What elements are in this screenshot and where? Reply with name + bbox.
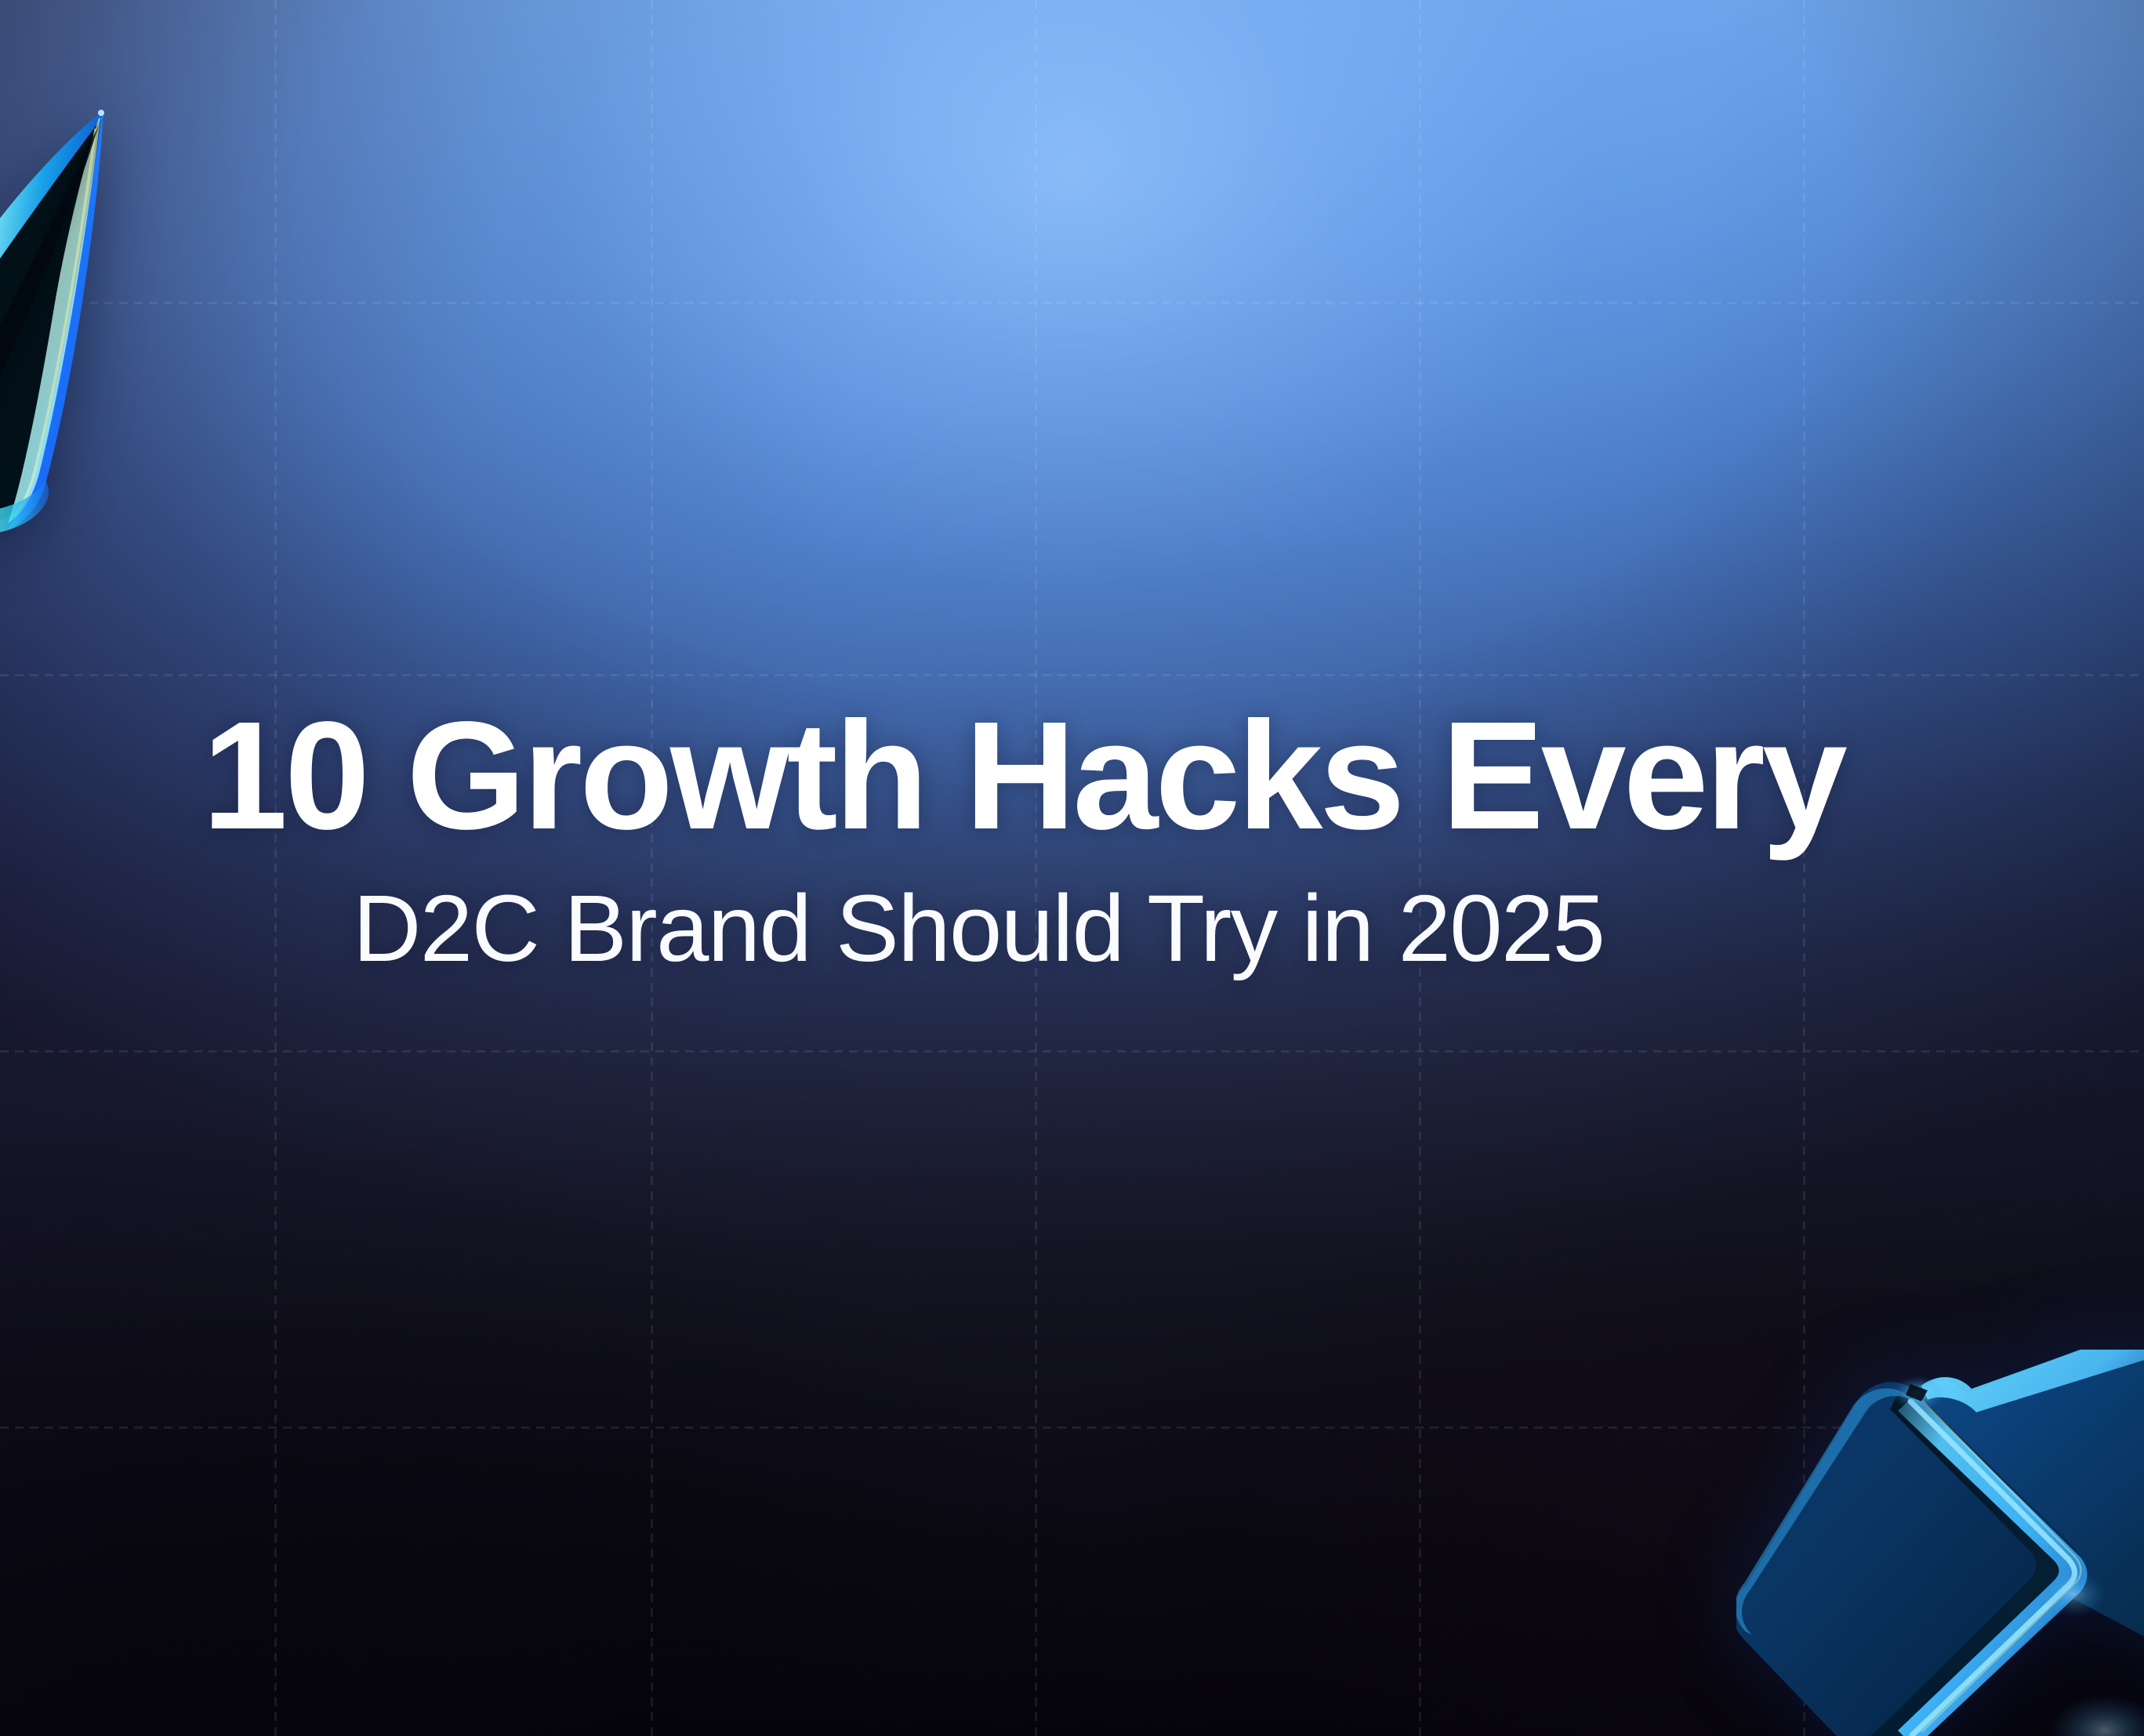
cone-3d-shape — [0, 92, 119, 547]
slide-headline: 10 Growth Hacks Every — [202, 696, 1927, 856]
slide-subheadline: D2C Brand Should Try in 2025 — [353, 878, 1927, 978]
headline-block: 10 Growth Hacks Every D2C Brand Should T… — [202, 696, 1927, 978]
crystal-3d-shape — [1736, 1350, 2144, 1736]
slide-canvas: 10 Growth Hacks Every D2C Brand Should T… — [0, 0, 2144, 1736]
